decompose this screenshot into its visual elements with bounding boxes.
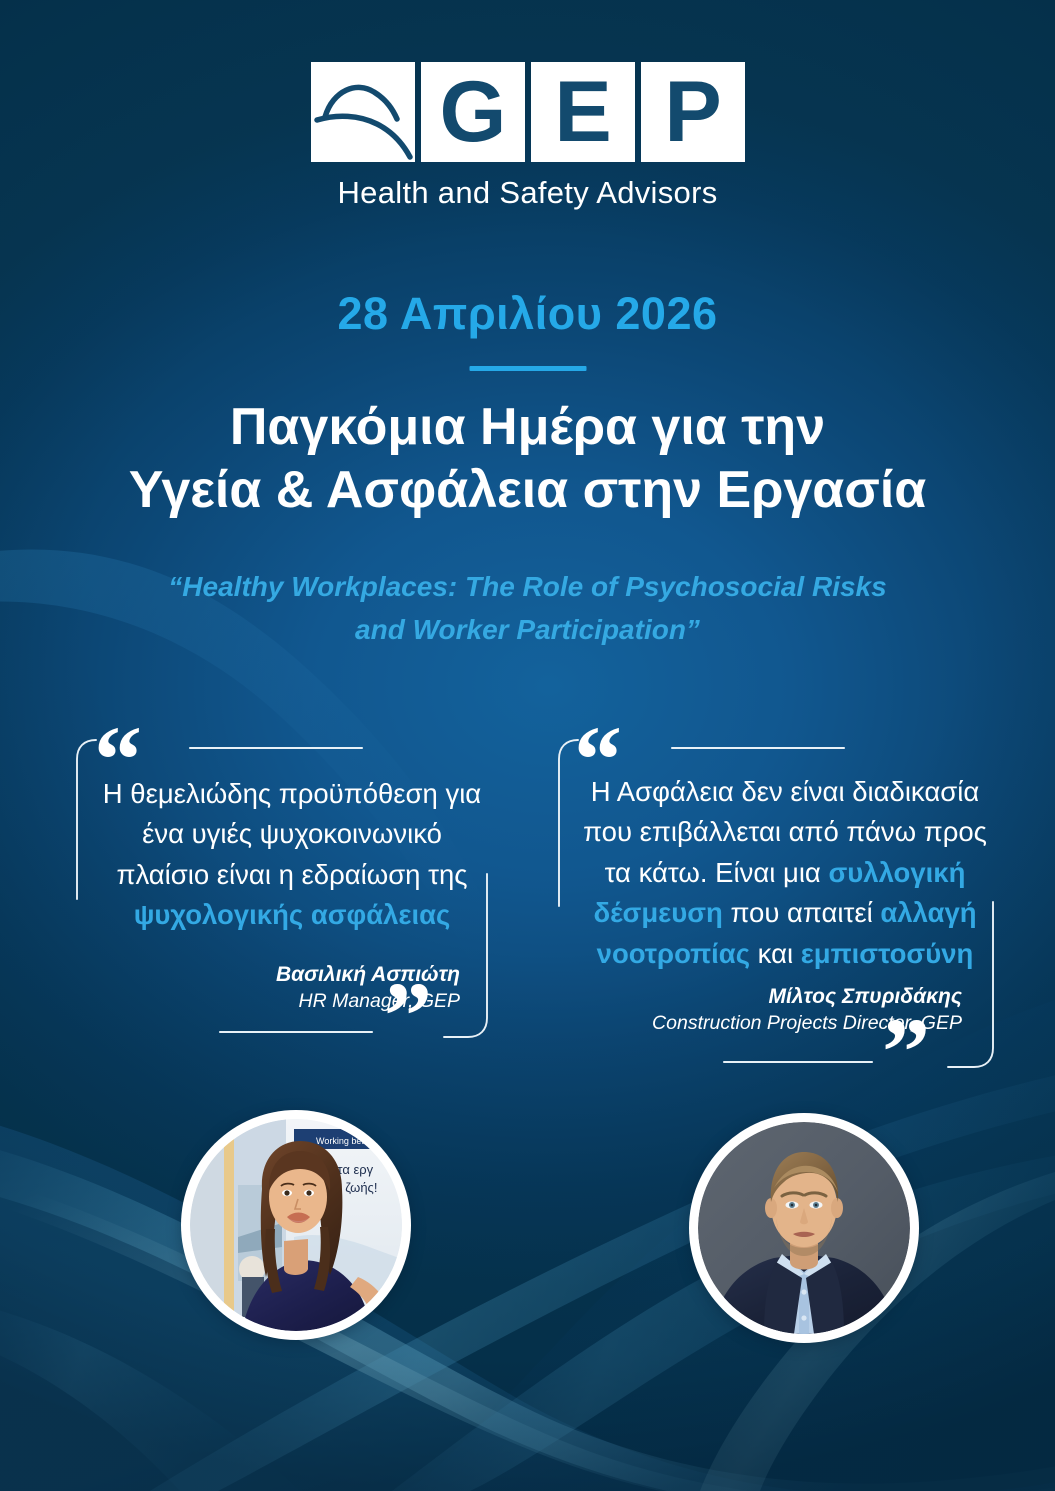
page-title: Παγκόμια Ημέρα για την Υγεία & Ασφάλεια … xyxy=(0,396,1055,522)
logo-squares: G E P xyxy=(311,62,745,162)
logo-letter-g: G xyxy=(421,62,525,162)
title-line-2: Υγεία & Ασφάλεια στην Εργασία xyxy=(40,459,1015,522)
subtitle-line-1: “Healthy Workplaces: The Role of Psychos… xyxy=(120,566,935,609)
quote-close-mark-left: ” xyxy=(384,968,430,1064)
quote-segment: και xyxy=(750,938,801,969)
event-subtitle: “Healthy Workplaces: The Role of Psychos… xyxy=(0,566,1055,651)
quote-segment: Η θεμελιώδης προϋπόθεση για ένα υγιές ψυ… xyxy=(103,778,481,890)
quote-highlight: εμπιστοσύνη xyxy=(801,938,974,969)
avatar-miltos-spyridakis xyxy=(689,1113,919,1343)
brand-logo: G E P Health and Safety Advisors xyxy=(0,62,1055,211)
logo-tagline: Health and Safety Advisors xyxy=(337,175,717,211)
avatar-image: Working better ότητα εργ ητα ζωής! xyxy=(190,1119,402,1331)
quote-close-mark-right: ” xyxy=(882,1004,928,1100)
logo-letter-e: E xyxy=(531,62,635,162)
quote-card-left: “ Η θεμελιώδης προϋπόθεση για ένα υγιές … xyxy=(72,706,492,1056)
title-line-1: Παγκόμια Ημέρα για την xyxy=(40,396,1015,459)
date-divider xyxy=(469,366,586,371)
quote-text-right: Η Ασφάλεια δεν είναι διαδικασία που επιβ… xyxy=(580,772,990,974)
quote-segment: που απαιτεί xyxy=(723,897,881,928)
quote-highlight: ψυχολογικής ασφάλειας xyxy=(134,899,451,930)
quote-text-left: Η θεμελιώδης προϋπόθεση για ένα υγιές ψυ… xyxy=(92,774,492,936)
avatar-vasiliki-aspioti: Working better ότητα εργ ητα ζωής! xyxy=(181,1110,411,1340)
avatar-image xyxy=(698,1122,910,1334)
quote-card-right: “ Η Ασφάλεια δεν είναι διαδικασία που επ… xyxy=(552,706,1002,1086)
svg-text:Working better: Working better xyxy=(316,1136,374,1146)
event-date: 28 Απριλίου 2026 xyxy=(0,288,1055,340)
landscape-arc-icon xyxy=(311,62,415,162)
subtitle-line-2: and Worker Participation” xyxy=(120,609,935,652)
logo-letter-p: P xyxy=(641,62,745,162)
poster-canvas: G E P Health and Safety Advisors 28 Απρι… xyxy=(0,0,1055,1491)
